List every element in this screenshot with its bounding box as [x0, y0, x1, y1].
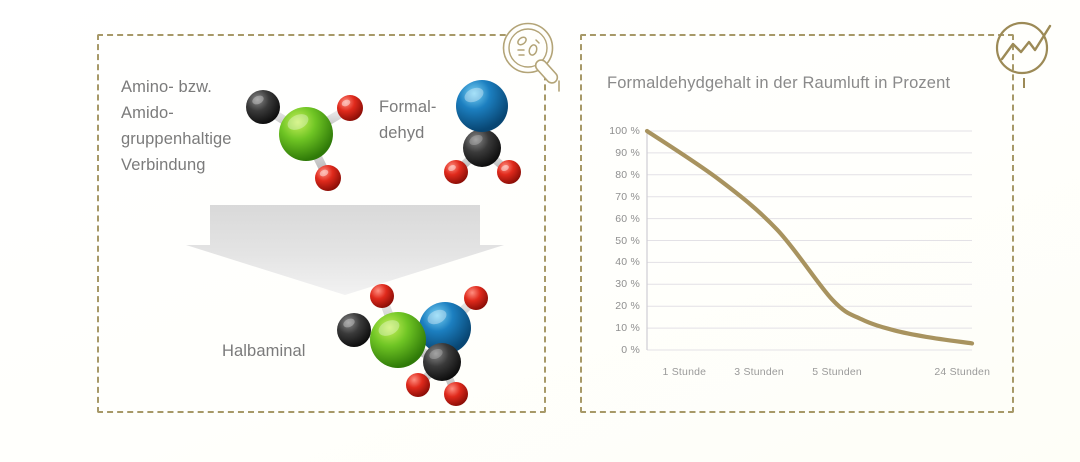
y-tick-label: 80 % [596, 169, 640, 181]
amino-compound-label-line-3: gruppenhaltige [121, 126, 291, 152]
hemiaminal-label: Halbaminal [222, 338, 306, 364]
y-tick-label: 10 % [596, 322, 640, 334]
x-tick-label: 1 Stunde [663, 366, 707, 378]
y-tick-label: 30 % [596, 278, 640, 290]
page-canvas: Amino- bzw. Amido- gruppenhaltige Verbin… [0, 0, 1080, 462]
y-tick-label: 60 % [596, 213, 640, 225]
y-tick-label: 90 % [596, 147, 640, 159]
formaldehyde-label-line-2: dehyd [379, 120, 474, 146]
amino-compound-label: Amino- bzw. Amido- gruppenhaltige Verbin… [121, 74, 291, 178]
magnifier-germs-icon [497, 18, 573, 94]
amino-compound-label-line-1: Amino- bzw. [121, 74, 291, 100]
y-tick-label: 70 % [596, 191, 640, 203]
y-tick-label: 0 % [596, 344, 640, 356]
y-tick-label: 50 % [596, 235, 640, 247]
chart-plot-area [580, 34, 1014, 413]
formaldehyde-decay-chart: 100 %90 %80 %70 %60 %50 %40 %30 %20 %10 … [580, 34, 1014, 413]
formaldehyde-label: Formal- dehyd [379, 94, 474, 146]
x-tick-label: 3 Stunden [734, 366, 784, 378]
y-tick-label: 40 % [596, 256, 640, 268]
y-tick-label: 100 % [596, 125, 640, 137]
x-tick-label: 5 Stunden [812, 366, 862, 378]
amino-compound-label-line-2: Amido- [121, 100, 291, 126]
formaldehyde-label-line-1: Formal- [379, 94, 474, 120]
x-tick-label: 24 Stunden [934, 366, 990, 378]
amino-compound-label-line-4: Verbindung [121, 152, 291, 178]
hemiaminal-molecule [326, 272, 506, 408]
y-tick-label: 20 % [596, 300, 640, 312]
